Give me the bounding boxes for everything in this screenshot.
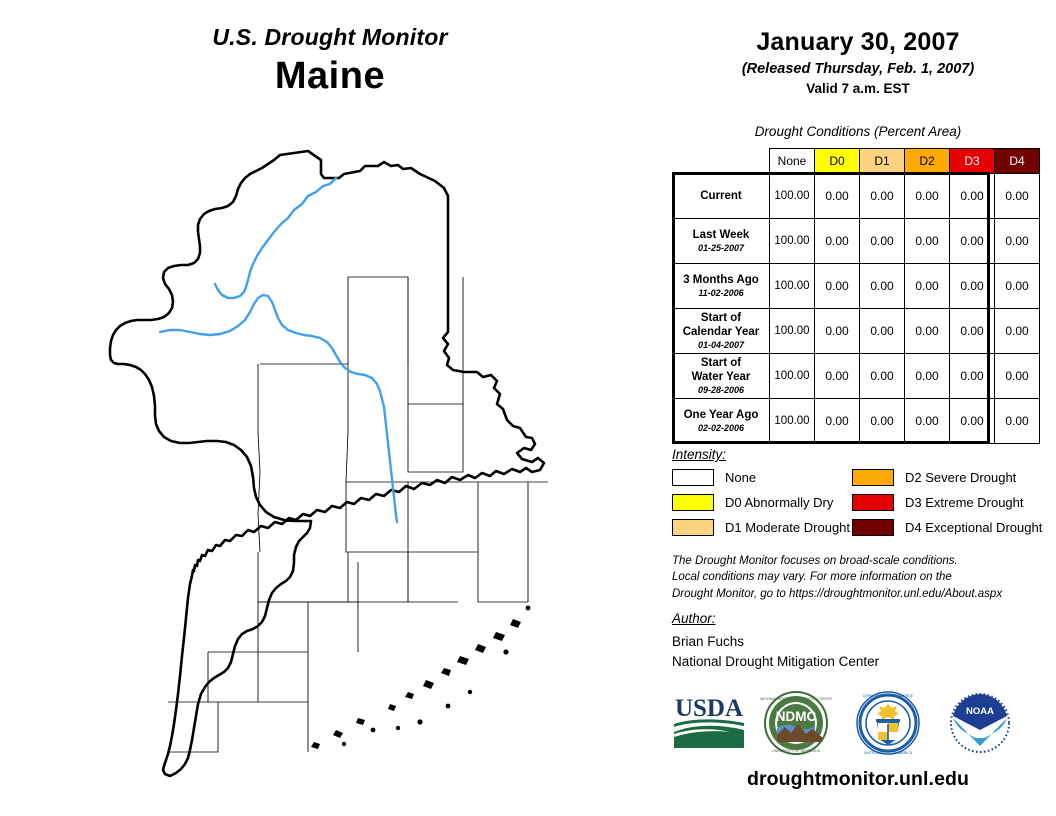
table-cell-d2: 0.00 (905, 219, 950, 264)
table-cell-none: 100.00 (770, 219, 815, 264)
legend-swatch (672, 494, 714, 511)
table-row-date: 01-04-2007 (673, 340, 769, 351)
table-cell-d4: 0.00 (995, 219, 1040, 264)
commerce-logo[interactable]: DEPARTMENT OF COMMERCE UNITED STATES OF … (852, 690, 924, 761)
author-organization: National Drought Mitigation Center (672, 652, 879, 672)
table-cell-d3: 0.00 (950, 399, 995, 444)
issue-date: January 30, 2007 (660, 28, 1056, 57)
table-corner-cell (673, 149, 770, 174)
table-cell-d3: 0.00 (950, 309, 995, 354)
table-cell-d3: 0.00 (950, 219, 995, 264)
table-row-label: Last Week01-25-2007 (673, 219, 770, 264)
legend-label: D2 Severe Drought (905, 470, 1016, 485)
legend-swatch (672, 519, 714, 536)
state-title: Maine (0, 55, 660, 98)
table-column-header-d4: D4 (995, 149, 1040, 174)
author-block: Brian Fuchs National Drought Mitigation … (672, 632, 879, 671)
legend-label: D4 Exceptional Drought (905, 520, 1042, 535)
legend-swatch (852, 469, 894, 486)
disclaimer-line-1: The Drought Monitor focuses on broad-sca… (672, 553, 1052, 569)
table-cell-none: 100.00 (770, 354, 815, 399)
legend-item-d1: D1 Moderate Drought (672, 519, 850, 536)
table-cell-none: 100.00 (770, 399, 815, 444)
disclaimer: The Drought Monitor focuses on broad-sca… (672, 553, 1052, 602)
table-cell-d2: 0.00 (905, 174, 950, 219)
table-row-label: Current (673, 174, 770, 219)
legend-swatch (852, 519, 894, 536)
date-block: January 30, 2007 (Released Thursday, Feb… (660, 28, 1056, 96)
table-cell-d4: 0.00 (995, 309, 1040, 354)
release-date: (Released Thursday, Feb. 1, 2007) (660, 61, 1056, 77)
table-cell-d1: 0.00 (860, 354, 905, 399)
table-cell-d0: 0.00 (815, 354, 860, 399)
table-row-label: 3 Months Ago11-02-2006 (673, 264, 770, 309)
legend-swatch (672, 469, 714, 486)
table-cell-d0: 0.00 (815, 264, 860, 309)
legend-item-d4: D4 Exceptional Drought (852, 519, 1042, 536)
title-block: U.S. Drought Monitor Maine (0, 24, 660, 98)
table-row: Last Week01-25-2007100.000.000.000.000.0… (673, 219, 1040, 264)
legend-item-d3: D3 Extreme Drought (852, 494, 1024, 511)
table-column-header-d3: D3 (950, 149, 995, 174)
table-cell-d1: 0.00 (860, 174, 905, 219)
table-cell-d0: 0.00 (815, 309, 860, 354)
table-cell-d3: 0.00 (950, 264, 995, 309)
table-cell-d4: 0.00 (995, 264, 1040, 309)
table-row-label: Start ofCalendar Year01-04-2007 (673, 309, 770, 354)
maine-drought-map[interactable] (108, 132, 578, 782)
table-row: 3 Months Ago11-02-2006100.000.000.000.00… (673, 264, 1040, 309)
coastal-islands (311, 606, 530, 749)
svg-text:USDA: USDA (675, 695, 743, 722)
table-row: Start ofWater Year09-28-2006100.000.000.… (673, 354, 1040, 399)
svg-text:NATIONAL DROUGHT MITIGATION CE: NATIONAL DROUGHT MITIGATION CENTER (760, 697, 832, 701)
disclaimer-line-2: Local conditions may vary. For more info… (672, 569, 1052, 585)
table-row-date: 09-28-2006 (673, 385, 769, 396)
table-row: Start ofCalendar Year01-04-2007100.000.0… (673, 309, 1040, 354)
table-row-date: 02-02-2006 (673, 423, 769, 434)
usda-logo[interactable]: USDA (670, 690, 748, 757)
table-cell-d2: 0.00 (905, 354, 950, 399)
noaa-logo[interactable]: NOAA (944, 690, 1016, 761)
table-cell-d3: 0.00 (950, 174, 995, 219)
table-cell-none: 100.00 (770, 264, 815, 309)
map-panel: U.S. Drought Monitor Maine (0, 0, 660, 816)
table-column-header-d0: D0 (815, 149, 860, 174)
svg-text:NDMC: NDMC (776, 709, 817, 724)
table-row-label: One Year Ago02-02-2006 (673, 399, 770, 444)
author-name: Brian Fuchs (672, 632, 879, 652)
table-cell-d3: 0.00 (950, 354, 995, 399)
table-row-date: 01-25-2007 (673, 243, 769, 254)
logo-row: USDA NDMC NATIONAL DROUGHT MITIGATION CE… (660, 690, 1056, 768)
intensity-legend-title: Intensity: (672, 447, 726, 462)
table-cell-d1: 0.00 (860, 219, 905, 264)
valid-time: Valid 7 a.m. EST (660, 81, 1056, 96)
table-column-header-d1: D1 (860, 149, 905, 174)
table-cell-d2: 0.00 (905, 399, 950, 444)
table-cell-none: 100.00 (770, 309, 815, 354)
table-cell-d0: 0.00 (815, 219, 860, 264)
author-title: Author: (672, 611, 716, 626)
legend-item-none: None (672, 469, 756, 486)
table-row-label: Start ofWater Year09-28-2006 (673, 354, 770, 399)
drought-conditions-table: NoneD0D1D2D3D4 Current100.000.000.000.00… (672, 148, 1040, 444)
legend-item-d0: D0 Abnormally Dry (672, 494, 833, 511)
state-outline (110, 151, 544, 776)
table-header-row: NoneD0D1D2D3D4 (673, 149, 1040, 174)
svg-text:NOAA: NOAA (966, 706, 994, 717)
table-cell-d4: 0.00 (995, 354, 1040, 399)
table-caption: Drought Conditions (Percent Area) (660, 124, 1056, 139)
table-cell-d0: 0.00 (815, 399, 860, 444)
legend-item-d2: D2 Severe Drought (852, 469, 1016, 486)
table-body: Current100.000.000.000.000.000.00Last We… (673, 174, 1040, 444)
table-cell-d1: 0.00 (860, 264, 905, 309)
legend-label: None (725, 470, 756, 485)
table-cell-d0: 0.00 (815, 174, 860, 219)
table-cell-d4: 0.00 (995, 399, 1040, 444)
table-cell-none: 100.00 (770, 174, 815, 219)
table-cell-d2: 0.00 (905, 309, 950, 354)
table-column-header-d2: D2 (905, 149, 950, 174)
site-url[interactable]: droughtmonitor.unl.edu (660, 768, 1056, 791)
info-panel: January 30, 2007 (Released Thursday, Feb… (660, 0, 1056, 816)
table-row: Current100.000.000.000.000.000.00 (673, 174, 1040, 219)
table-row: One Year Ago02-02-2006100.000.000.000.00… (673, 399, 1040, 444)
table-cell-d1: 0.00 (860, 309, 905, 354)
ndmc-logo[interactable]: NDMC NATIONAL DROUGHT MITIGATION CENTER … (760, 690, 832, 761)
legend-swatch (852, 494, 894, 511)
disclaimer-line-3: Drought Monitor, go to https://droughtmo… (672, 586, 1052, 602)
svg-text:UNITED STATES OF AMERICA: UNITED STATES OF AMERICA (864, 751, 913, 755)
svg-text:UNIVERSITY OF NEBRASKA: UNIVERSITY OF NEBRASKA (772, 749, 821, 753)
table-row-date: 11-02-2006 (673, 288, 769, 299)
legend-label: D3 Extreme Drought (905, 495, 1024, 510)
table-cell-d4: 0.00 (995, 174, 1040, 219)
legend-label: D0 Abnormally Dry (725, 495, 833, 510)
table-cell-d1: 0.00 (860, 399, 905, 444)
page-title: U.S. Drought Monitor (0, 24, 660, 51)
table-column-header-none: None (770, 149, 815, 174)
table-cell-d2: 0.00 (905, 264, 950, 309)
svg-text:DEPARTMENT OF COMMERCE: DEPARTMENT OF COMMERCE (863, 694, 913, 698)
legend-label: D1 Moderate Drought (725, 520, 850, 535)
